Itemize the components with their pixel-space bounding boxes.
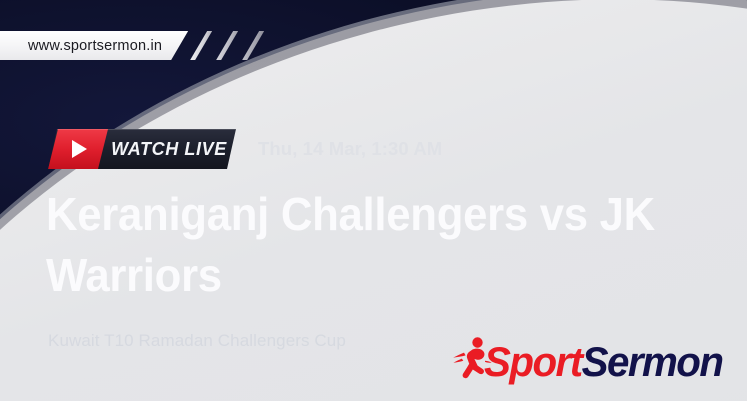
match-datetime: Thu, 14 Mar, 1:30 AM xyxy=(258,138,442,160)
watch-live-label: WATCH LIVE xyxy=(108,129,236,169)
logo-word-sermon: Sermon xyxy=(582,338,723,385)
site-url-bar: www.sportsermon.in xyxy=(0,31,264,60)
stripe-decoration-2 xyxy=(216,31,238,60)
stripe-decoration-3 xyxy=(242,31,264,60)
watch-live-button[interactable]: WATCH LIVE xyxy=(48,129,236,169)
tournament-name: Kuwait T10 Ramadan Challengers Cup xyxy=(48,331,346,351)
logo-wordmark: SportSermon xyxy=(484,341,723,383)
url-bar-stripes xyxy=(186,31,264,60)
site-url-plate: www.sportsermon.in xyxy=(0,31,188,60)
logo-word-sport: Sport xyxy=(484,338,582,385)
play-icon[interactable] xyxy=(48,129,108,169)
match-preview-banner: www.sportsermon.in WATCH LIVE Thu, 14 Ma… xyxy=(0,0,747,401)
stripe-decoration-1 xyxy=(190,31,212,60)
sportsermon-logo[interactable]: SportSermon xyxy=(452,331,732,383)
watch-live-row: WATCH LIVE Thu, 14 Mar, 1:30 AM xyxy=(48,129,442,169)
match-title: Keraniganj Challengers vs JK Warriors xyxy=(46,184,664,306)
site-url-text: www.sportsermon.in xyxy=(28,38,162,54)
play-triangle-icon xyxy=(72,140,87,158)
